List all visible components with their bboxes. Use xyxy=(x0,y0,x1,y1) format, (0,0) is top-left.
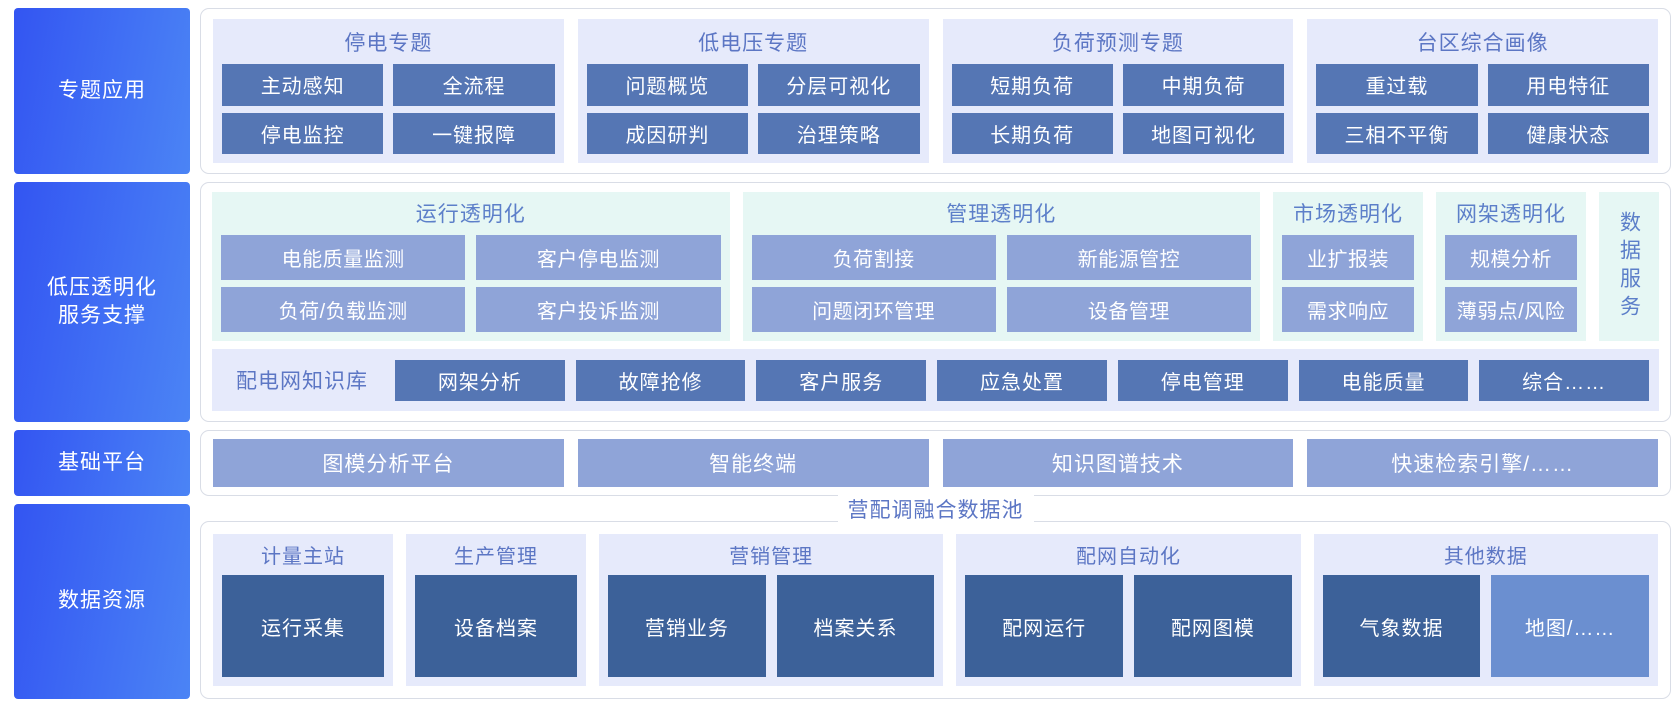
group-other-data: 其他数据 气象数据 地图/…… xyxy=(1314,534,1658,686)
group-operation-transparency: 运行透明化 电能质量监测 客户停电监测 负荷/负载监测 客户投诉监测 xyxy=(212,192,730,341)
kb-tile-grid-analysis[interactable]: 网架分析 xyxy=(395,360,565,401)
kb-tile-customer-service[interactable]: 客户服务 xyxy=(756,360,926,401)
layer-row-platform: 基础平台 图模分析平台 智能终端 知识图谱技术 快速检索引擎/…… xyxy=(14,430,1671,496)
group-distribution-automation: 配网自动化 配网运行 配网图模 xyxy=(956,534,1300,686)
kb-tile-comprehensive[interactable]: 综合…… xyxy=(1479,360,1649,401)
group-load-forecast-topic: 负荷预测专题 短期负荷 中期负荷 长期负荷 地图可视化 xyxy=(943,19,1294,163)
group-title: 营销管理 xyxy=(608,538,934,575)
group-title: 低电压专题 xyxy=(587,24,920,64)
tile-grid: 营销业务 档案关系 xyxy=(608,575,934,677)
tile-grid: 主动感知 全流程 停电监控 一键报障 xyxy=(222,64,555,154)
tile-short-term-load[interactable]: 短期负荷 xyxy=(952,64,1113,106)
kb-tile-fault-repair[interactable]: 故障抢修 xyxy=(576,360,746,401)
tile-grid: 规模分析 薄弱点/风险 xyxy=(1445,235,1577,332)
tile-grid: 问题概览 分层可视化 成因研判 治理策略 xyxy=(587,64,920,154)
tile-scale-analysis[interactable]: 规模分析 xyxy=(1445,235,1577,280)
tile-customer-complaint-monitor[interactable]: 客户投诉监测 xyxy=(476,287,720,332)
tile-distribution-operation[interactable]: 配网运行 xyxy=(965,575,1123,677)
tile-grid: 业扩报装 需求响应 xyxy=(1282,235,1414,332)
group-marketing-management: 营销管理 营销业务 档案关系 xyxy=(599,534,943,686)
layer-row-lv-service: 低压透明化 服务支撑 运行透明化 电能质量监测 客户停电监测 负荷/负载监测 客… xyxy=(14,182,1671,422)
tile-knowledge-graph-tech[interactable]: 知识图谱技术 xyxy=(943,439,1294,487)
tile-layered-visual[interactable]: 分层可视化 xyxy=(758,64,919,106)
tile-load-monitor[interactable]: 负荷/负载监测 xyxy=(221,287,465,332)
group-title: 计量主站 xyxy=(222,538,384,575)
tile-grid: 气象数据 地图/…… xyxy=(1323,575,1649,677)
tile-customer-outage-monitor[interactable]: 客户停电监测 xyxy=(476,235,720,280)
layer-row-data-resource: 数据资源 营配调融合数据池 计量主站 运行采集 生产管理 设备档案 xyxy=(14,504,1671,699)
group-management-transparency: 管理透明化 负荷割接 新能源管控 问题闭环管理 设备管理 xyxy=(743,192,1261,341)
group-title: 生产管理 xyxy=(415,538,577,575)
tile-problem-overview[interactable]: 问题概览 xyxy=(587,64,748,106)
panel-data-service: 数据服务 xyxy=(1599,192,1659,341)
tile-equipment-management[interactable]: 设备管理 xyxy=(1007,287,1251,332)
tile-one-click-report[interactable]: 一键报障 xyxy=(393,113,554,155)
tile-health-status[interactable]: 健康状态 xyxy=(1488,113,1649,155)
knowledge-base-title: 配电网知识库 xyxy=(222,365,384,395)
tile-grid: 重过载 用电特征 三相不平衡 健康状态 xyxy=(1316,64,1649,154)
tile-map-visual[interactable]: 地图可视化 xyxy=(1123,113,1284,155)
architecture-diagram: 专题应用 停电专题 主动感知 全流程 停电监控 一键报障 低电压专题 问题概览 … xyxy=(0,0,1679,707)
group-grid-transparency: 网架透明化 规模分析 薄弱点/风险 xyxy=(1436,192,1586,341)
layer-row-application: 专题应用 停电专题 主动感知 全流程 停电监控 一键报障 低电压专题 问题概览 … xyxy=(14,8,1671,174)
layer-panel-application: 停电专题 主动感知 全流程 停电监控 一键报障 低电压专题 问题概览 分层可视化… xyxy=(200,8,1671,174)
tile-marketing-business[interactable]: 营销业务 xyxy=(608,575,766,677)
tile-power-quality-monitor[interactable]: 电能质量监测 xyxy=(221,235,465,280)
group-title: 管理透明化 xyxy=(752,196,1252,235)
tile-archive-relation[interactable]: 档案关系 xyxy=(777,575,935,677)
group-low-voltage-topic: 低电压专题 问题概览 分层可视化 成因研判 治理策略 xyxy=(578,19,929,163)
tile-graph-model-platform[interactable]: 图模分析平台 xyxy=(213,439,564,487)
tile-new-energy-control[interactable]: 新能源管控 xyxy=(1007,235,1251,280)
group-title: 配网自动化 xyxy=(965,538,1291,575)
lv-transparency-groups: 运行透明化 电能质量监测 客户停电监测 负荷/负载监测 客户投诉监测 管理透明化… xyxy=(212,192,1659,341)
kb-tile-power-quality[interactable]: 电能质量 xyxy=(1299,360,1469,401)
tile-fast-search-engine[interactable]: 快速检索引擎/…… xyxy=(1307,439,1658,487)
layer-label-lv-service: 低压透明化 服务支撑 xyxy=(14,182,190,422)
kb-tile-outage-management[interactable]: 停电管理 xyxy=(1118,360,1288,401)
group-metering-master: 计量主站 运行采集 xyxy=(213,534,393,686)
tile-load-transfer[interactable]: 负荷割接 xyxy=(752,235,996,280)
tile-active-sensing[interactable]: 主动感知 xyxy=(222,64,383,106)
tile-three-phase-imbalance[interactable]: 三相不平衡 xyxy=(1316,113,1477,155)
tile-cause-analysis[interactable]: 成因研判 xyxy=(587,113,748,155)
group-market-transparency: 市场透明化 业扩报装 需求响应 xyxy=(1273,192,1423,341)
tile-operation-collection[interactable]: 运行采集 xyxy=(222,575,384,677)
group-title: 市场透明化 xyxy=(1282,196,1414,235)
tile-demand-response[interactable]: 需求响应 xyxy=(1282,287,1414,332)
group-title: 停电专题 xyxy=(222,24,555,64)
tile-smart-terminal[interactable]: 智能终端 xyxy=(578,439,929,487)
tile-heavy-overload[interactable]: 重过载 xyxy=(1316,64,1477,106)
tile-grid: 电能质量监测 客户停电监测 负荷/负载监测 客户投诉监测 xyxy=(221,235,721,332)
data-pool-title: 营配调融合数据池 xyxy=(838,494,1034,524)
data-service-label: 数据服务 xyxy=(1619,211,1640,323)
group-title: 台区综合画像 xyxy=(1316,24,1649,64)
tile-problem-closed-loop[interactable]: 问题闭环管理 xyxy=(752,287,996,332)
layer-panel-data-resource: 营配调融合数据池 计量主站 运行采集 生产管理 设备档案 营销管理 xyxy=(200,504,1671,699)
tile-weather-data[interactable]: 气象数据 xyxy=(1323,575,1481,677)
layer-label-line2: 服务支撑 xyxy=(58,304,146,327)
layer-panel-lv-service: 运行透明化 电能质量监测 客户停电监测 负荷/负载监测 客户投诉监测 管理透明化… xyxy=(200,182,1671,422)
tile-grid: 负荷割接 新能源管控 问题闭环管理 设备管理 xyxy=(752,235,1252,332)
tile-outage-monitor[interactable]: 停电监控 xyxy=(222,113,383,155)
tile-grid: 配网运行 配网图模 xyxy=(965,575,1291,677)
tile-full-process[interactable]: 全流程 xyxy=(393,64,554,106)
tile-map-data[interactable]: 地图/…… xyxy=(1491,575,1649,677)
group-title: 其他数据 xyxy=(1323,538,1649,575)
group-title: 负荷预测专题 xyxy=(952,24,1285,64)
tile-grid: 短期负荷 中期负荷 长期负荷 地图可视化 xyxy=(952,64,1285,154)
tile-grid: 设备档案 xyxy=(415,575,577,677)
tile-mid-term-load[interactable]: 中期负荷 xyxy=(1123,64,1284,106)
layer-label-application: 专题应用 xyxy=(14,8,190,174)
tile-distribution-graph-model[interactable]: 配网图模 xyxy=(1134,575,1292,677)
layer-label-data-resource: 数据资源 xyxy=(14,504,190,699)
group-production-management: 生产管理 设备档案 xyxy=(406,534,586,686)
layer-panel-platform: 图模分析平台 智能终端 知识图谱技术 快速检索引擎/…… xyxy=(200,430,1671,496)
tile-business-expansion[interactable]: 业扩报装 xyxy=(1282,235,1414,280)
tile-equipment-archive[interactable]: 设备档案 xyxy=(415,575,577,677)
tile-power-usage-profile[interactable]: 用电特征 xyxy=(1488,64,1649,106)
group-title: 运行透明化 xyxy=(221,196,721,235)
group-station-profile: 台区综合画像 重过载 用电特征 三相不平衡 健康状态 xyxy=(1307,19,1658,163)
kb-tile-emergency-handling[interactable]: 应急处置 xyxy=(937,360,1107,401)
panel-data-pool: 营配调融合数据池 计量主站 运行采集 生产管理 设备档案 营销管理 xyxy=(200,521,1671,699)
tile-grid: 运行采集 xyxy=(222,575,384,677)
layer-label-platform: 基础平台 xyxy=(14,430,190,496)
group-title: 网架透明化 xyxy=(1445,196,1577,235)
layer-label-line1: 低压透明化 xyxy=(47,276,157,299)
tile-weakpoint-risk[interactable]: 薄弱点/风险 xyxy=(1445,287,1577,332)
panel-knowledge-base: 配电网知识库 网架分析 故障抢修 客户服务 应急处置 停电管理 电能质量 综合…… xyxy=(212,349,1659,411)
tile-treatment-policy[interactable]: 治理策略 xyxy=(758,113,919,155)
tile-long-term-load[interactable]: 长期负荷 xyxy=(952,113,1113,155)
group-outage-topic: 停电专题 主动感知 全流程 停电监控 一键报障 xyxy=(213,19,564,163)
